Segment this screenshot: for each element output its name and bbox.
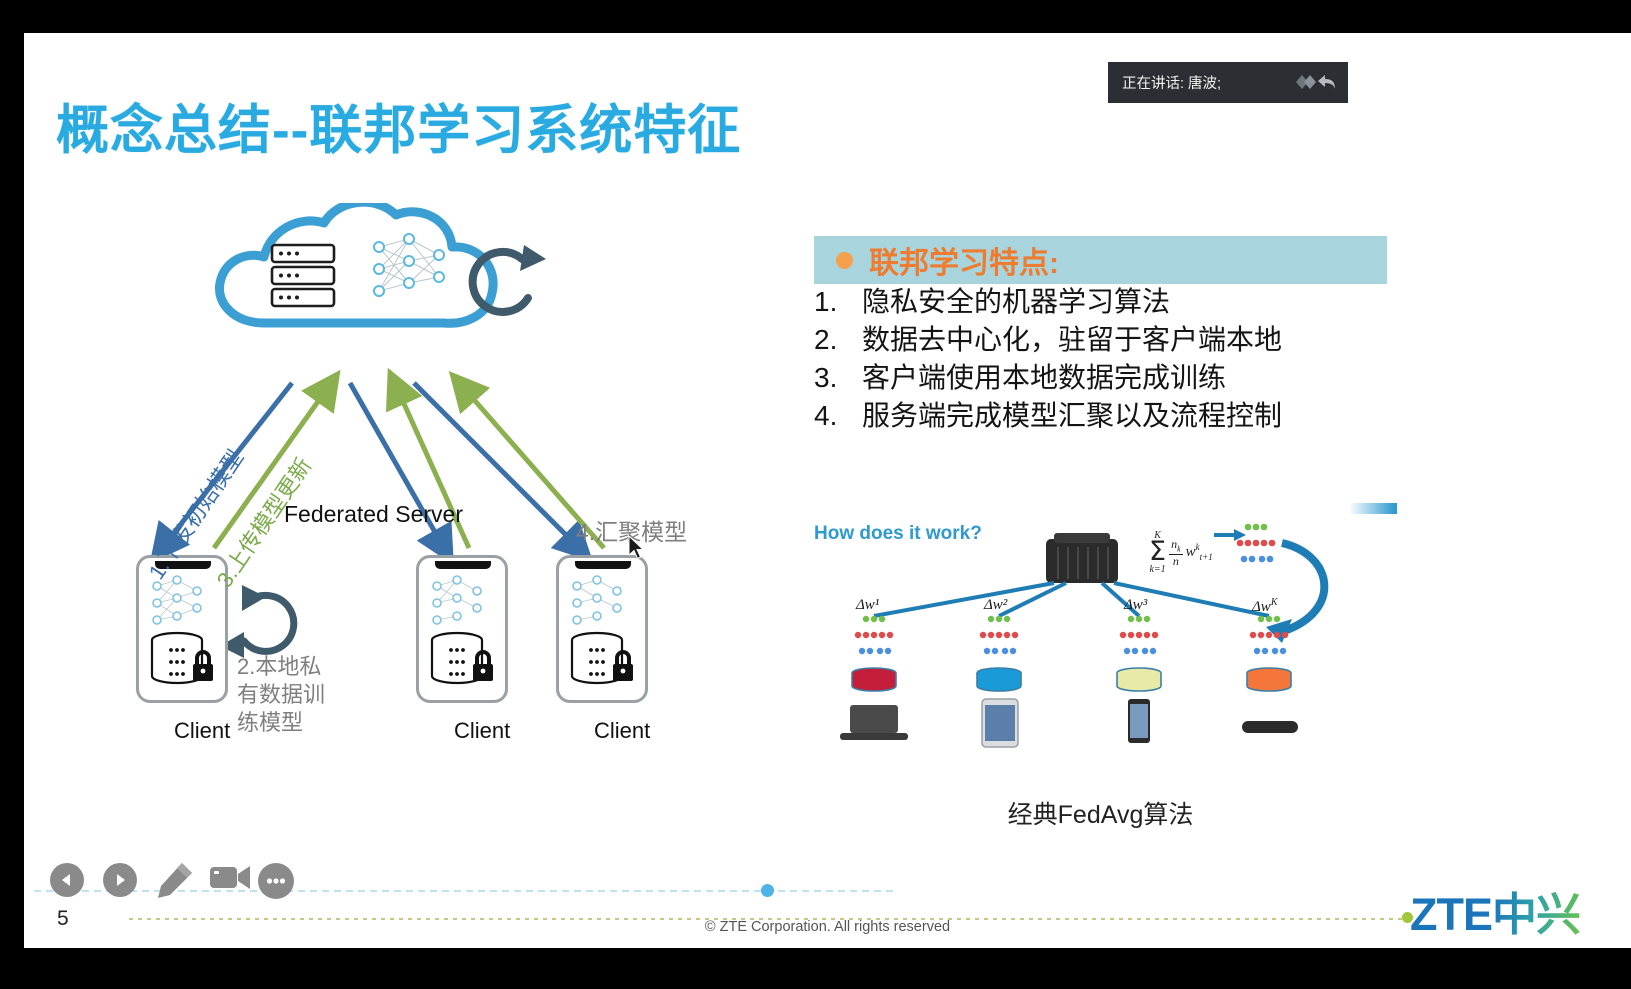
client-device-2 bbox=[416, 555, 508, 703]
video-camera-icon bbox=[208, 859, 252, 895]
client-label-3: Client bbox=[594, 718, 650, 744]
more-options-button[interactable] bbox=[258, 863, 294, 899]
letterbox-top bbox=[0, 0, 1631, 33]
copyright-text: © ZTE Corporation. All rights reserved bbox=[24, 919, 1631, 935]
list-item-text: 服务端完成模型汇聚以及流程控制 bbox=[862, 402, 1282, 430]
list-item: 4. 服务端完成模型汇聚以及流程控制 bbox=[814, 402, 1414, 430]
output-network-icon bbox=[1237, 524, 1276, 563]
list-item-text: 客户端使用本地数据完成训练 bbox=[862, 364, 1226, 392]
slide-toolbar: 5 © ZTE Corporation. All rights reserved bbox=[24, 845, 1631, 948]
delta-w-k: ΔwK bbox=[1252, 597, 1277, 616]
list-item-text: 数据去中心化，驻留于客户端本地 bbox=[862, 326, 1282, 354]
fedavg-client-k bbox=[1242, 616, 1298, 733]
previous-slide-button[interactable] bbox=[50, 863, 84, 897]
fedavg-svg bbox=[814, 503, 1394, 823]
list-item-number: 1. bbox=[814, 288, 862, 316]
record-video-button[interactable] bbox=[208, 859, 252, 900]
letterbox-bottom bbox=[0, 948, 1631, 989]
next-arrow-icon bbox=[112, 872, 128, 888]
pen-tool-button[interactable] bbox=[152, 859, 196, 906]
previous-arrow-icon bbox=[59, 872, 75, 888]
client-label-1: Client bbox=[174, 718, 230, 744]
client-device-graphic bbox=[139, 558, 225, 700]
zte-logo: ZTE中兴 bbox=[1410, 878, 1580, 943]
screen: 概念总结--联邦学习系统特征 bbox=[0, 0, 1631, 989]
client-device-3 bbox=[556, 555, 648, 703]
delta-w-k-sup: K bbox=[1271, 597, 1278, 608]
fedavg-links bbox=[874, 583, 1269, 616]
list-item: 1. 隐私安全的机器学习算法 bbox=[814, 288, 1414, 316]
federated-server-label: Federated Server bbox=[284, 501, 463, 528]
local-training-label: 2.本地私有数据训练模型 bbox=[237, 653, 342, 737]
client-label-2: Client bbox=[454, 718, 510, 744]
delta-w-2: Δw² bbox=[984, 597, 1007, 614]
list-item-number: 3. bbox=[814, 364, 862, 392]
mouse-cursor bbox=[629, 536, 647, 562]
list-item: 3. 客户端使用本地数据完成训练 bbox=[814, 364, 1414, 392]
list-item-number: 4. bbox=[814, 402, 862, 430]
speaking-status-badge: 正在讲话: 唐波; bbox=[1108, 62, 1348, 103]
fedavg-client-1 bbox=[840, 616, 908, 740]
delta-w-k-symbol: Δw bbox=[1252, 599, 1271, 615]
refresh-arrowhead bbox=[520, 245, 546, 271]
federated-learning-diagram: Federated Server 4.汇聚模型 1.下发初始模型 3.上传模型更… bbox=[84, 203, 744, 783]
feedback-arrow bbox=[1282, 543, 1324, 631]
fedavg-figure: How does it work? K Σ k=1 nk n wkt+1 bbox=[814, 483, 1394, 833]
signal-icon[interactable] bbox=[1294, 72, 1316, 94]
reply-arrow-icon[interactable] bbox=[1316, 72, 1338, 94]
fedavg-client-3 bbox=[1117, 616, 1161, 743]
features-list: 1. 隐私安全的机器学习算法 2. 数据去中心化，驻留于客户端本地 3. 客户端… bbox=[814, 288, 1414, 440]
fedavg-caption: 经典FedAvg算法 bbox=[814, 795, 1387, 831]
list-item-number: 2. bbox=[814, 326, 862, 354]
ellipsis-icon bbox=[266, 877, 286, 885]
cloud-icon bbox=[219, 203, 493, 323]
pen-icon bbox=[152, 859, 196, 901]
client-device-graphic-2 bbox=[419, 558, 505, 700]
client-device-graphic-3 bbox=[559, 558, 645, 700]
features-header-title: 联邦学习特点: bbox=[869, 238, 1059, 282]
delta-w-1: Δw¹ bbox=[856, 597, 879, 614]
bullet-icon bbox=[836, 252, 853, 269]
letterbox-left bbox=[0, 0, 24, 989]
fedavg-client-2 bbox=[977, 616, 1021, 747]
presentation-slide: 概念总结--联邦学习系统特征 bbox=[24, 33, 1631, 948]
list-item-text: 隐私安全的机器学习算法 bbox=[862, 288, 1170, 316]
features-header-box: 联邦学习特点: bbox=[814, 236, 1387, 284]
page-title: 概念总结--联邦学习系统特征 bbox=[56, 88, 741, 164]
speaking-status-text: 正在讲话: 唐波; bbox=[1122, 72, 1294, 93]
delta-w-3: Δw³ bbox=[1124, 597, 1147, 614]
local-refresh-arrowhead bbox=[242, 585, 266, 611]
next-slide-button[interactable] bbox=[103, 863, 137, 897]
list-item: 2. 数据去中心化，驻留于客户端本地 bbox=[814, 326, 1414, 354]
central-server-icon bbox=[1046, 533, 1118, 583]
